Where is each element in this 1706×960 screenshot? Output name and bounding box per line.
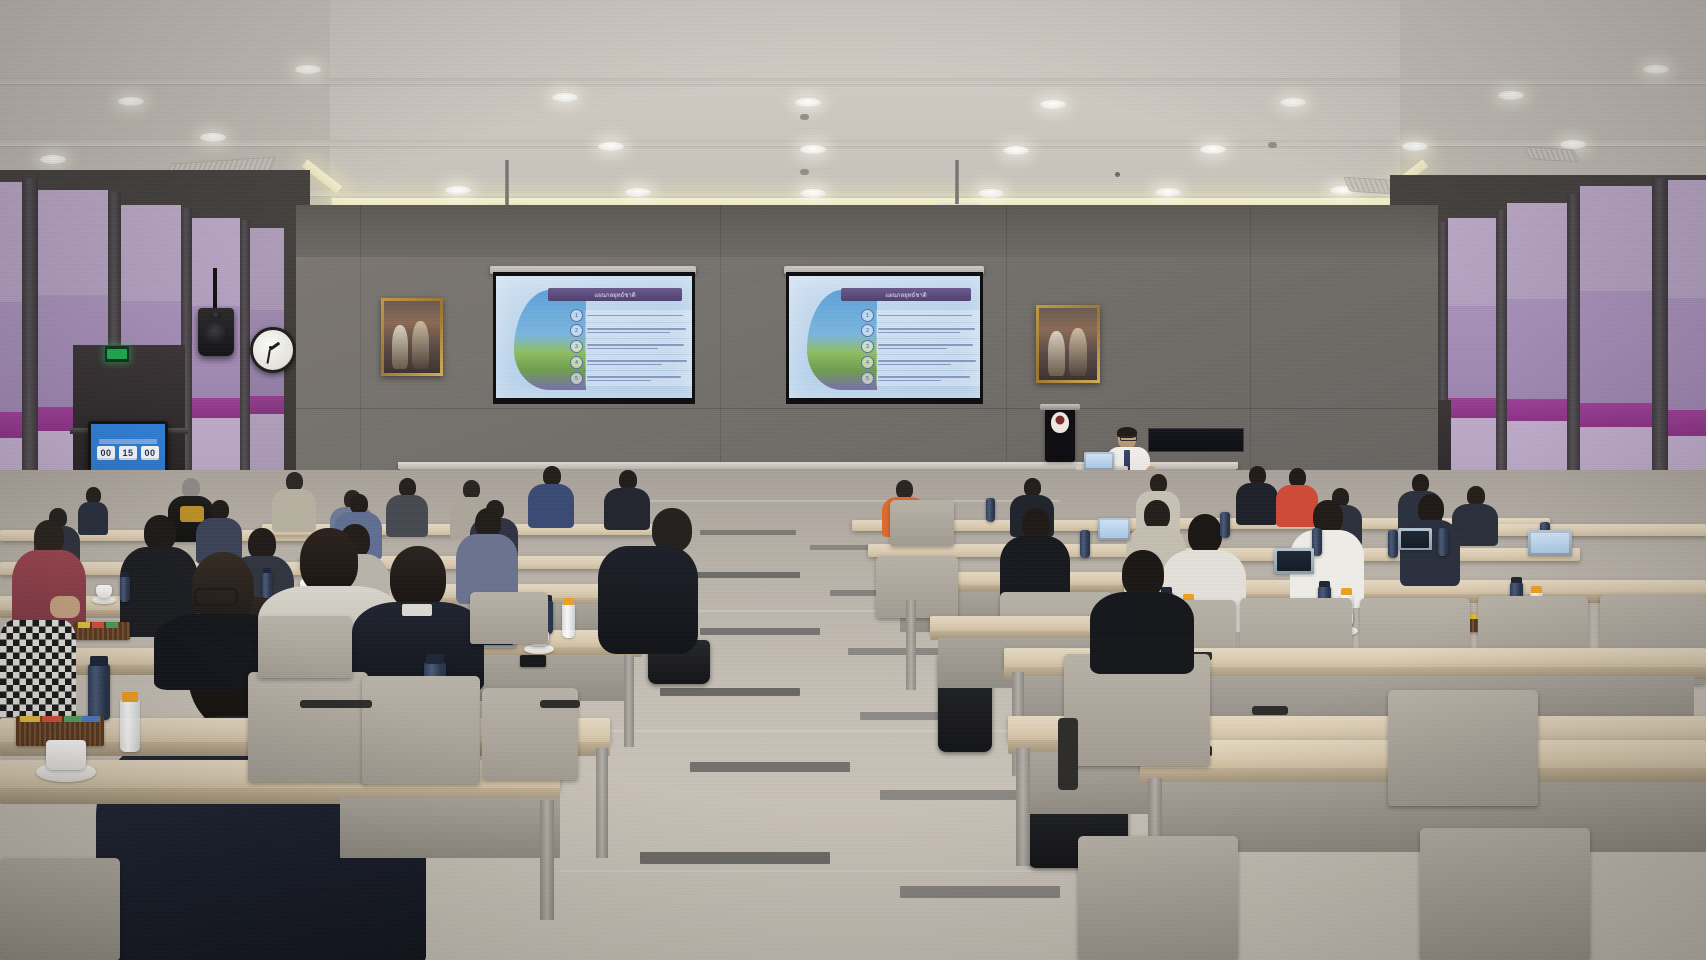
floor-plank-light — [560, 870, 1140, 872]
bullet-text — [585, 339, 692, 354]
floor-plank-dark — [660, 688, 800, 696]
framed-royal-portrait-right — [1036, 305, 1100, 383]
attendee — [0, 620, 76, 730]
desk-leg — [596, 748, 608, 858]
portrait-image — [1039, 308, 1097, 380]
framed-royal-portrait-left — [381, 298, 443, 376]
bottle-cap-orange — [563, 598, 574, 605]
attendee-head — [1467, 486, 1485, 506]
bullet-number: 1 — [570, 309, 583, 322]
floor-plank-dark — [690, 572, 800, 578]
wall-panel-joint — [1006, 205, 1007, 473]
front-wall-upper-band — [296, 205, 1438, 257]
laptop-screen — [1100, 520, 1128, 538]
bullet-number: 1 — [861, 309, 874, 322]
slide-title-bar: แผนกลยุทธ์ชาติ — [841, 288, 971, 301]
attendee-hand — [50, 596, 80, 618]
water-bottle — [986, 498, 995, 522]
ceiling-band — [0, 78, 1706, 84]
bottle-cap — [1511, 577, 1522, 583]
floor-plank-dark — [700, 628, 820, 635]
snack-item — [42, 716, 62, 722]
chair-backrest — [0, 858, 120, 960]
shirt-collar — [402, 604, 432, 616]
bottle-cap-orange — [122, 692, 138, 702]
slide-bullet: 5 — [861, 371, 980, 386]
plastic-water-bottle — [562, 604, 575, 638]
wall-seam — [296, 408, 1438, 409]
floor-plank-dark — [700, 530, 796, 535]
attendee-torso — [598, 546, 698, 654]
chair — [1388, 690, 1538, 806]
bullet-text — [876, 371, 980, 386]
chair — [362, 676, 480, 784]
water-bottle — [1080, 530, 1090, 558]
attendee-leaning — [598, 508, 702, 650]
floor-plank-dark — [690, 762, 850, 772]
ceiling-downlight — [1200, 145, 1226, 154]
portrait-figure — [1048, 331, 1065, 376]
attendee-head — [144, 515, 176, 551]
bullet-number: 3 — [861, 340, 874, 353]
coffee-cup — [46, 740, 86, 770]
ceiling-downlight — [118, 97, 144, 106]
ceiling-downlight — [1643, 65, 1669, 74]
chair-backrest — [876, 556, 958, 618]
snack-item — [20, 716, 40, 722]
laptop-screen — [1531, 533, 1569, 553]
ceiling-band — [0, 140, 1706, 146]
snack-item — [82, 716, 100, 722]
smoke-detector — [800, 169, 809, 175]
slide-bullet: 5 — [570, 371, 692, 386]
ceiling-downlight — [295, 65, 321, 74]
bullet-text — [585, 310, 692, 322]
attendee-head — [300, 528, 358, 594]
clock-minute-hand — [266, 349, 271, 364]
slide-bullet: 4 — [570, 355, 692, 370]
bullet-number: 2 — [861, 324, 874, 337]
portrait-figure — [392, 325, 408, 369]
chair — [258, 616, 352, 678]
floor-plank-dark — [848, 648, 952, 655]
laptop-screen — [1277, 551, 1311, 571]
desk-modesty-panel — [340, 798, 560, 858]
smoke-detector — [800, 114, 809, 120]
bullet-number: 5 — [861, 372, 874, 385]
ceiling-downlight — [40, 155, 66, 164]
bullet-text — [585, 371, 692, 386]
desk-leg — [540, 800, 554, 920]
slide-bullet: 4 — [861, 355, 980, 370]
ceiling-downlight — [800, 145, 826, 154]
attendee — [1090, 550, 1194, 666]
snack-item — [64, 716, 84, 722]
bottle-cap — [1319, 581, 1330, 587]
bullet-number: 3 — [570, 340, 583, 353]
floor-plank-light — [640, 500, 1060, 502]
countdown-timer-monitor: 00 15 00 — [88, 421, 168, 477]
laptop-on-desk — [1528, 530, 1572, 556]
ceiling-downlight — [598, 142, 624, 151]
bullet-text — [876, 355, 980, 370]
crest-canopy — [1040, 404, 1080, 410]
ceiling-downlight — [445, 186, 471, 195]
wall-speaker-left — [198, 308, 234, 356]
sprinkler-head — [1115, 172, 1120, 177]
water-bottle — [1220, 512, 1230, 538]
ceiling-downlight — [1560, 140, 1586, 149]
bullet-text — [585, 323, 692, 338]
chair-armrest — [300, 700, 372, 708]
bullet-text — [876, 310, 980, 322]
desk-leg — [624, 655, 634, 747]
attendee-head — [350, 494, 368, 514]
chair-backrest — [258, 616, 352, 678]
chair-backrest — [248, 672, 368, 782]
attendee-head — [619, 470, 637, 490]
bottle-cap — [426, 654, 444, 664]
desk-leg — [906, 600, 916, 690]
laptop-screen — [1086, 454, 1112, 468]
smoke-detector — [1268, 142, 1277, 148]
chair — [470, 592, 548, 644]
attendee-torso — [272, 489, 316, 532]
slide-bullet: 2 — [861, 323, 980, 338]
bottle-cap — [90, 656, 108, 666]
emergency-exit-sign — [104, 345, 130, 363]
eyeglasses — [194, 588, 238, 606]
ceiling-downlight — [795, 98, 821, 107]
ceiling-downlight — [978, 189, 1004, 198]
ceiling-downlight — [1155, 188, 1181, 197]
ceiling-downlight — [800, 189, 826, 198]
attendee — [528, 466, 574, 526]
bullet-text — [876, 323, 980, 338]
timer-header-bar — [99, 439, 157, 444]
exit-sign-glyph — [107, 349, 127, 360]
water-bottle — [1388, 530, 1398, 558]
projection-screen-right: แผนกลยุทธ์ชาติ 1 2 3 4 — [789, 276, 980, 398]
bottle-cap — [121, 572, 129, 577]
smartphone — [520, 655, 546, 667]
speaker-tweeter — [211, 311, 221, 319]
chair — [1420, 828, 1590, 960]
chair-backrest — [470, 592, 548, 644]
floor-plank-dark — [900, 886, 1060, 898]
plastic-water-bottle — [120, 700, 140, 752]
attendee-torso — [528, 484, 574, 528]
water-bottle — [1438, 528, 1448, 556]
wall-panel-joint — [720, 205, 721, 473]
chair — [876, 556, 958, 618]
bullet-number: 2 — [570, 324, 583, 337]
timer-minutes: 15 — [119, 446, 137, 460]
slide-bullet: 3 — [570, 339, 692, 354]
attendee — [386, 478, 428, 534]
chair — [248, 672, 368, 782]
bullet-number: 5 — [570, 372, 583, 385]
clock-center-pin — [269, 346, 272, 349]
chair-backrest — [1078, 836, 1238, 960]
chair-backrest — [1388, 690, 1538, 806]
ceiling-downlight — [625, 188, 651, 197]
chair-backrest — [890, 500, 954, 546]
analog-wall-clock — [250, 327, 296, 373]
ceiling-downlight — [200, 133, 226, 142]
royal-crest-emblem — [1045, 408, 1075, 462]
chair-backrest — [362, 676, 480, 784]
chair-backrest — [1420, 828, 1590, 960]
speaker-driver — [204, 321, 228, 345]
water-bottle — [88, 664, 110, 720]
desk-leg — [1016, 748, 1030, 866]
attendee-head — [182, 478, 200, 498]
projection-screen-left: แผนกลยุทธ์ชาติ 1 2 3 4 — [496, 276, 692, 398]
laptop-screen — [1401, 531, 1429, 548]
chair — [1078, 836, 1238, 960]
laptop-on-desk — [1098, 518, 1130, 540]
slide-content-right: แผนกลยุทธ์ชาติ 1 2 3 4 — [789, 276, 980, 398]
chair — [0, 858, 120, 960]
projector-mount-rod — [955, 160, 959, 209]
portrait-figure — [412, 321, 429, 369]
slide-bullet: 1 — [570, 309, 692, 322]
slide-title-text: แผนกลยุทธ์ชาติ — [885, 290, 926, 300]
bullet-text — [876, 339, 980, 354]
timer-seconds: 00 — [141, 446, 159, 460]
attendee-head — [543, 466, 561, 486]
attendee-head — [211, 500, 229, 520]
chair — [890, 500, 954, 546]
slide-bullet: 1 — [861, 309, 980, 322]
wall-panel-joint — [360, 205, 361, 473]
attendee — [272, 472, 316, 530]
laptop-on-desk — [1398, 528, 1432, 550]
slide-title-bar: แผนกลยุทธ์ชาติ — [548, 288, 682, 301]
ceiling-downlight — [1280, 98, 1306, 107]
presenter-glasses — [1120, 436, 1137, 441]
floor-plank-dark — [640, 852, 830, 864]
ceiling-downlight — [1402, 142, 1428, 151]
attendee-head — [34, 520, 64, 554]
bottle-cap-orange — [1341, 588, 1352, 595]
attendee-head — [1122, 550, 1164, 598]
conference-room-photo: 00 15 00 — [0, 0, 1706, 960]
ceiling-downlight — [552, 93, 578, 102]
bottle-cap-orange — [1531, 586, 1542, 593]
portrait-figure — [1069, 328, 1087, 376]
ceiling-downlight — [1040, 100, 1066, 109]
bullet-number: 4 — [570, 356, 583, 369]
chair-armrest — [1058, 718, 1078, 790]
attendee-head — [390, 546, 446, 610]
bullet-number: 4 — [861, 356, 874, 369]
slide-content-left: แผนกลยุทธ์ชาติ 1 2 3 4 — [496, 276, 692, 398]
floor-plank-dark — [880, 790, 1020, 800]
slide-title-text: แผนกลยุทธ์ชาติ — [594, 290, 635, 300]
wall-panel-joint — [1250, 205, 1251, 473]
projector-mount-rod — [505, 160, 509, 210]
slide-bullet: 3 — [861, 339, 980, 354]
chair-armrest — [540, 700, 580, 708]
speaker-mount-rod — [213, 268, 217, 310]
timer-digit-group: 00 15 00 — [97, 446, 159, 460]
laptop-on-desk — [1274, 548, 1314, 574]
control-booth-window — [1148, 428, 1244, 452]
timer-screen: 00 15 00 — [91, 424, 165, 474]
slide-bullet: 2 — [570, 323, 692, 338]
ceiling-downlight — [1498, 91, 1524, 100]
timer-hours: 00 — [97, 446, 115, 460]
snack-item — [78, 622, 90, 628]
crest-medallion — [1051, 412, 1069, 433]
bullet-text — [585, 355, 692, 370]
ceiling-downlight — [1003, 146, 1029, 155]
crest-center — [1056, 415, 1065, 424]
attendee-torso — [1090, 592, 1194, 674]
attendee — [352, 546, 484, 682]
attendee-head — [1188, 514, 1222, 554]
chair-armrest — [1252, 706, 1288, 715]
podium-laptop — [1084, 452, 1114, 470]
portrait-image — [384, 301, 440, 373]
